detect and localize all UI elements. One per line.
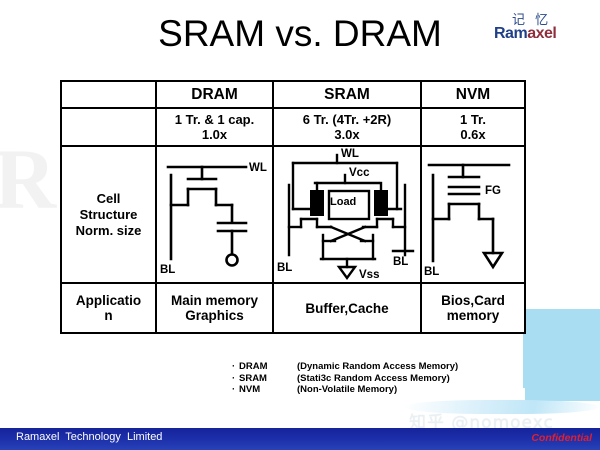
application-label-line2: n bbox=[62, 308, 155, 323]
logo-wordmark-part-a: Ram bbox=[494, 25, 527, 42]
footer-bar: Ramaxel Technology Limited Confidential bbox=[0, 428, 600, 450]
nvm-circuit-diagram: BL FG bbox=[422, 147, 524, 282]
table-row-application: Applicatio n Main memory Graphics Buffer… bbox=[61, 283, 525, 333]
legend-abbr: NVM bbox=[239, 384, 297, 396]
nvm-circuit-svg: BL FG bbox=[423, 147, 523, 279]
table-row-transistor-count: 1 Tr. & 1 cap. 1.0x 6 Tr. (4Tr. +2R) 3.0… bbox=[61, 108, 525, 146]
sram-load-label: Load bbox=[330, 196, 356, 208]
logo-wordmark-part-b: axel bbox=[527, 25, 556, 42]
transistor-count-dram-line2: 1.0x bbox=[157, 127, 272, 142]
application-nvm-line1: Bios,Card bbox=[422, 293, 524, 308]
sram-vss-label: Vss bbox=[359, 269, 379, 281]
transistor-count-sram: 6 Tr. (4Tr. +2R) 3.0x bbox=[273, 108, 421, 146]
cell-structure-label-line2: Structure bbox=[62, 207, 155, 223]
application-sram: Buffer,Cache bbox=[273, 283, 421, 333]
nvm-cell-diagram-container: BL FG bbox=[421, 146, 525, 283]
table-header-sram: SRAM bbox=[273, 81, 421, 108]
transistor-count-nvm: 1 Tr. 0.6x bbox=[421, 108, 525, 146]
cell-structure-label-line1: Cell bbox=[62, 191, 155, 207]
legend-item: ·DRAM(Dynamic Random Access Memory) bbox=[232, 361, 458, 373]
dram-wordline-label: WL bbox=[249, 162, 267, 174]
application-dram: Main memory Graphics bbox=[156, 283, 273, 333]
nvm-floating-gate-label: FG bbox=[485, 185, 501, 197]
sram-vcc-label: Vcc bbox=[349, 167, 370, 179]
comparison-table: DRAM SRAM NVM 1 Tr. & 1 cap. 1.0x 6 Tr. … bbox=[60, 80, 526, 334]
sram-circuit-svg: Load WL Vcc BL BL Vss bbox=[275, 147, 419, 281]
bullet-icon: · bbox=[232, 361, 239, 373]
nvm-ground-symbol bbox=[484, 253, 502, 267]
transistor-count-dram: 1 Tr. & 1 cap. 1.0x bbox=[156, 108, 273, 146]
dram-circuit-diagram: BL WL bbox=[157, 147, 272, 282]
sram-circuit-diagram: Load WL Vcc BL BL Vss bbox=[274, 147, 420, 282]
logo-wordmark: Ramaxel bbox=[494, 26, 556, 42]
decorative-blue-shape-secondary bbox=[523, 322, 600, 388]
legend-expansion: (Stati3c Random Access Memory) bbox=[297, 373, 450, 385]
legend-expansion: (Dynamic Random Access Memory) bbox=[297, 361, 458, 373]
dram-bitline-label: BL bbox=[160, 264, 175, 276]
table-header-dram: DRAM bbox=[156, 81, 273, 108]
cell-structure-label: Cell Structure Norm. size bbox=[61, 146, 156, 283]
sram-bitline-left-label: BL bbox=[277, 262, 292, 274]
cell-structure-label-line3: Norm. size bbox=[62, 223, 155, 239]
nvm-bitline-label: BL bbox=[424, 266, 439, 278]
slide-canvas: R SRAM vs. DRAM 记 忆 Ramaxel DRAM SRAM NV… bbox=[0, 0, 600, 450]
sram-cell-diagram-container: Load WL Vcc BL BL Vss bbox=[273, 146, 421, 283]
application-nvm: Bios,Card memory bbox=[421, 283, 525, 333]
transistor-count-nvm-line2: 0.6x bbox=[422, 127, 524, 142]
application-label-line1: Applicatio bbox=[62, 293, 155, 308]
ramaxel-logo: 记 忆 Ramaxel bbox=[494, 14, 578, 50]
legend-item: ·NVM(Non-Volatile Memory) bbox=[232, 384, 458, 396]
bullet-icon: · bbox=[232, 373, 239, 385]
dram-cell-diagram-container: BL WL bbox=[156, 146, 273, 283]
footer-confidential-label: Confidential bbox=[531, 432, 592, 444]
application-dram-line2: Graphics bbox=[157, 308, 272, 323]
application-label: Applicatio n bbox=[61, 283, 156, 333]
bullet-icon: · bbox=[232, 384, 239, 396]
transistor-count-dram-line1: 1 Tr. & 1 cap. bbox=[157, 112, 272, 127]
footer-company-name: Ramaxel Technology Limited bbox=[16, 431, 162, 443]
transistor-count-label bbox=[61, 108, 156, 146]
application-nvm-line2: memory bbox=[422, 308, 524, 323]
sram-wordline-label: WL bbox=[341, 148, 359, 160]
legend-expansion: (Non-Volatile Memory) bbox=[297, 384, 397, 396]
transistor-count-sram-line1: 6 Tr. (4Tr. +2R) bbox=[274, 112, 420, 127]
abbreviation-legend: ·DRAM(Dynamic Random Access Memory) ·SRA… bbox=[232, 361, 458, 396]
transistor-count-sram-line2: 3.0x bbox=[274, 127, 420, 142]
sram-bitline-right-label: BL bbox=[393, 256, 408, 268]
legend-abbr: SRAM bbox=[239, 373, 297, 385]
dram-circuit-svg: BL WL bbox=[158, 147, 271, 279]
sram-ground-symbol bbox=[339, 267, 355, 278]
table-row-cell-structure: Cell Structure Norm. size bbox=[61, 146, 525, 283]
legend-abbr: DRAM bbox=[239, 361, 297, 373]
dram-node-terminal bbox=[227, 255, 238, 266]
legend-item: ·SRAM(Stati3c Random Access Memory) bbox=[232, 373, 458, 385]
table-header-nvm: NVM bbox=[421, 81, 525, 108]
transistor-count-nvm-line1: 1 Tr. bbox=[422, 112, 524, 127]
application-dram-line1: Main memory bbox=[157, 293, 272, 308]
table-row-header: DRAM SRAM NVM bbox=[61, 81, 525, 108]
table-header-blank bbox=[61, 81, 156, 108]
